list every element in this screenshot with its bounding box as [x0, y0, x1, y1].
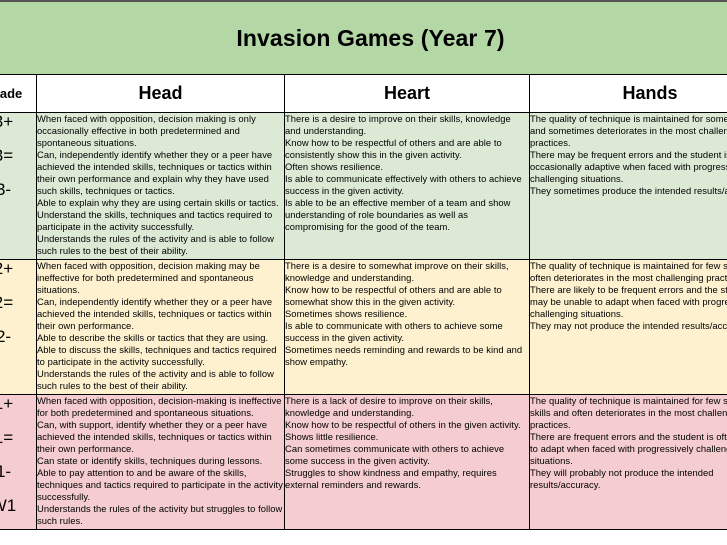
criteria-text: There is a desire to somewhat improve on…: [285, 260, 529, 368]
grade-cell-band-1: 1+ 1= 1- W1: [0, 395, 37, 530]
grade-label: 2-: [0, 328, 11, 345]
criteria-text: The quality of technique is maintained f…: [530, 113, 727, 197]
criteria-cell-heart-band-3: There is a desire to improve on their sk…: [285, 113, 530, 260]
grade-label: 3=: [0, 147, 13, 164]
criteria-cell-heart-band-1: There is a lack of desire to improve on …: [285, 395, 530, 530]
grade-list: 3+ 3= 3-: [0, 113, 36, 198]
criteria-cell-hands-band-3: The quality of technique is maintained f…: [530, 113, 727, 260]
table-row: 1+ 1= 1- W1 When faced with opposition, …: [0, 395, 727, 530]
column-header-heart-label: Heart: [285, 83, 529, 104]
criteria-text: The quality of technique is maintained f…: [530, 260, 727, 332]
page-title: Invasion Games (Year 7): [0, 2, 727, 74]
column-header-head-label: Head: [37, 83, 284, 104]
table-row: 3+ 3= 3- When faced with opposition, dec…: [0, 113, 727, 260]
column-header-hands-label: Hands: [530, 83, 727, 104]
column-header-grade: Grade: [0, 75, 37, 113]
grade-label: 2=: [0, 294, 13, 311]
table-row: 2+ 2= 2- When faced with opposition, dec…: [0, 260, 727, 395]
grade-label: 3+: [0, 113, 13, 130]
criteria-cell-head-band-1: When faced with opposition, decision-mak…: [37, 395, 285, 530]
grade-label: 2+: [0, 260, 13, 277]
grade-cell-band-2: 2+ 2= 2-: [0, 260, 37, 395]
criteria-cell-head-band-3: When faced with opposition, decision mak…: [37, 113, 285, 260]
grade-cell-band-3: 3+ 3= 3-: [0, 113, 37, 260]
title-row: Invasion Games (Year 7): [0, 1, 727, 75]
column-header-grade-label: Grade: [0, 86, 36, 101]
criteria-text: When faced with opposition, decision-mak…: [37, 395, 284, 527]
rubric-sheet: Invasion Games (Year 7) Grade Head Heart…: [0, 0, 727, 530]
document-title-cell: Invasion Games (Year 7): [0, 1, 727, 75]
grade-list: 1+ 1= 1- W1: [0, 395, 36, 514]
grade-label: 1+: [0, 395, 13, 412]
criteria-text: There is a lack of desire to improve on …: [285, 395, 529, 491]
criteria-cell-heart-band-2: There is a desire to somewhat improve on…: [285, 260, 530, 395]
column-header-hands: Hands: [530, 75, 727, 113]
rubric-table: Invasion Games (Year 7) Grade Head Heart…: [0, 0, 727, 530]
criteria-text: There is a desire to improve on their sk…: [285, 113, 529, 233]
column-header-head: Head: [37, 75, 285, 113]
criteria-cell-hands-band-2: The quality of technique is maintained f…: [530, 260, 727, 395]
grade-label: 3-: [0, 181, 11, 198]
grade-label: 1-: [0, 463, 11, 480]
criteria-text: When faced with opposition, decision mak…: [37, 113, 284, 257]
grade-label: 1=: [0, 429, 13, 446]
criteria-cell-hands-band-1: The quality of technique is maintained f…: [530, 395, 727, 530]
criteria-text: The quality of technique is maintained f…: [530, 395, 727, 491]
grade-label: W1: [0, 497, 16, 514]
criteria-cell-head-band-2: When faced with opposition, decision mak…: [37, 260, 285, 395]
criteria-text: When faced with opposition, decision mak…: [37, 260, 284, 392]
grade-list: 2+ 2= 2-: [0, 260, 36, 345]
column-header-heart: Heart: [285, 75, 530, 113]
column-header-row: Grade Head Heart Hands: [0, 75, 727, 113]
